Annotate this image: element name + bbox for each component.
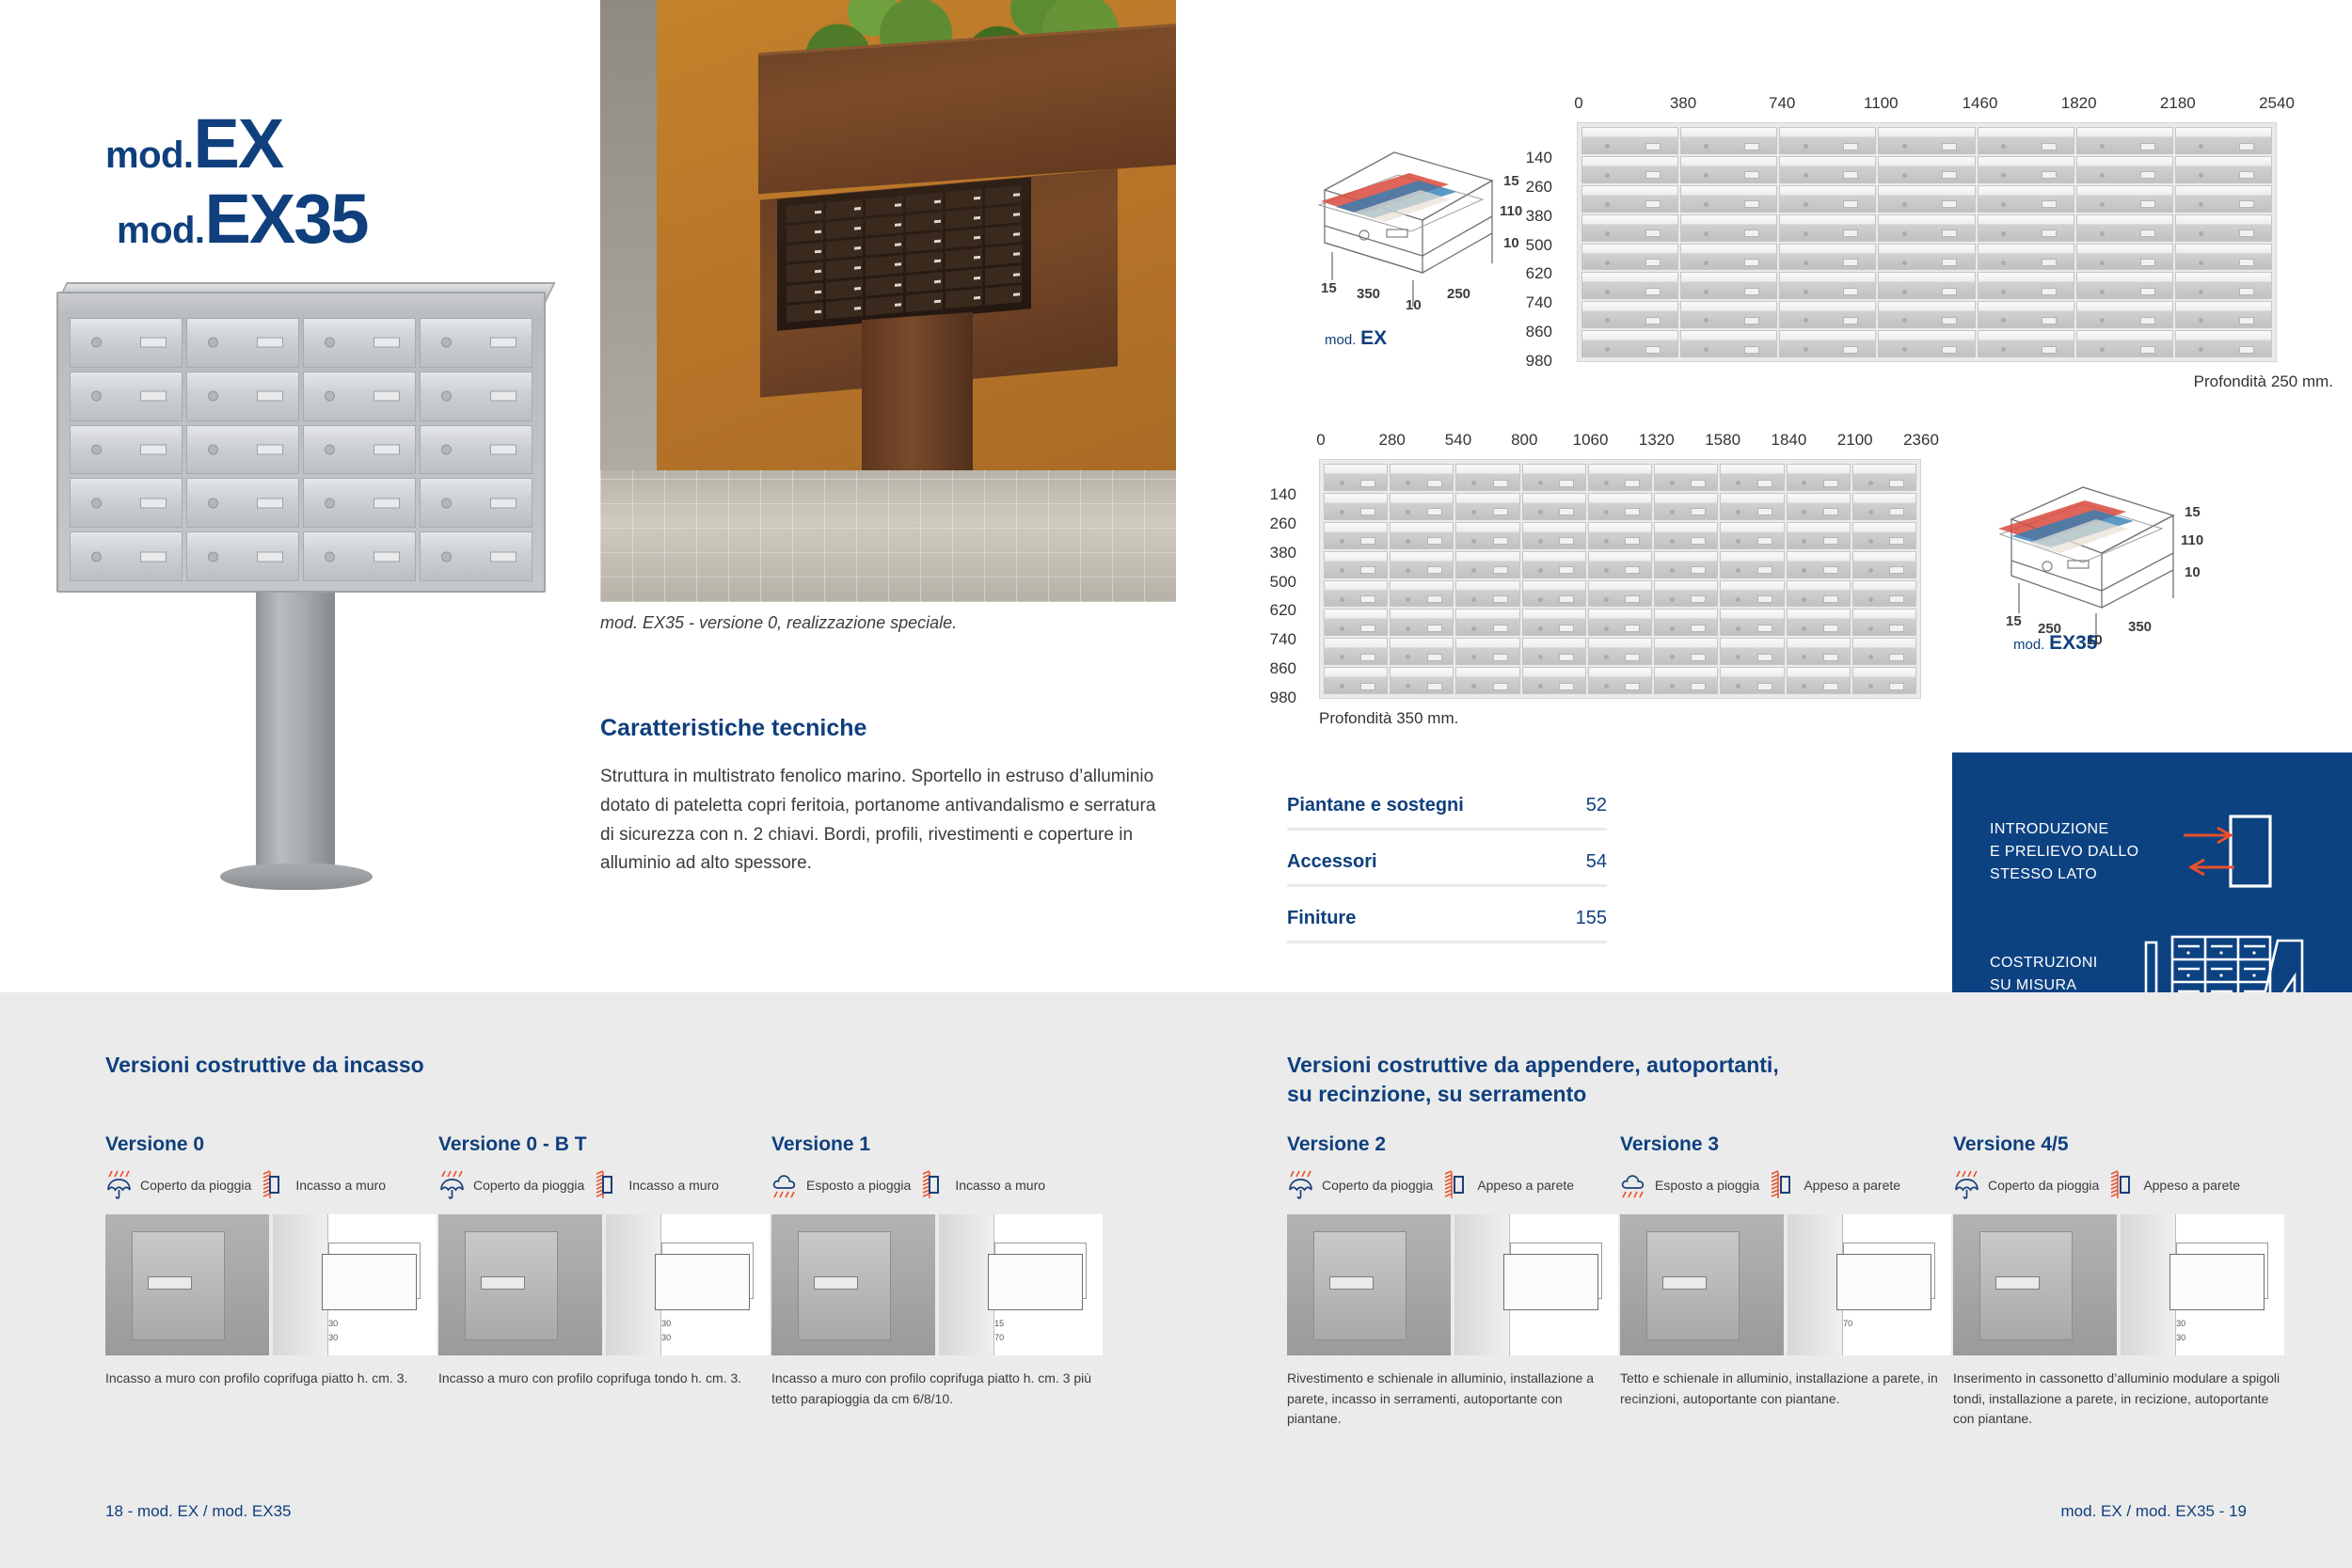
version-caption: Incasso a muro con profilo coprifuga pia… [771,1369,1103,1409]
chart-mailbox-module [2175,330,2272,357]
chart-mailbox-module [1654,667,1718,694]
version-attribute-icons: Coperto da pioggiaIncasso a muro [438,1169,770,1201]
hero-mailbox-cell [420,372,532,421]
photo-mailbox-cell [946,268,982,289]
wall-recess-icon [261,1170,289,1200]
version-attribute: Esposto a pioggia [1620,1170,1759,1200]
chart-x-tick: 280 [1379,431,1406,450]
iso-ex35-height-15: 15 [2185,504,2201,520]
hero-mailbox-cell [303,531,416,581]
version-attribute: Coperto da pioggia [438,1170,584,1200]
umbrella-icon [105,1170,134,1200]
version-images: 3030 [105,1214,437,1355]
iso-ex35-height-110: 110 [2181,532,2203,548]
reference-row[interactable]: Accessori54 [1287,851,1607,887]
hero-mailbox-cell [186,425,299,475]
version-caption: Tetto e schienale in alluminio, installa… [1620,1369,1951,1409]
title-line-ex: mod. EX [105,111,368,177]
photo-mailbox-cell [787,203,823,224]
version-title: Versione 0 - B T [438,1133,770,1156]
hero-mailbox-cell [420,425,532,475]
version-title: Versione 4/5 [1953,1133,2284,1156]
chart-mailbox-module [2076,330,2173,357]
photo-mailbox-cell [787,243,823,263]
chart-y-tick: 740 [1270,630,1296,649]
photo-mailbox-cell [826,299,863,320]
drawing-mailbox-body [988,1254,1083,1310]
chart-y-tick: 620 [1270,601,1296,620]
title-model-ex35: EX35 [205,186,368,252]
chart-mailbox-module [1581,156,1678,183]
chart-mailbox-module [1390,493,1454,520]
version-attribute: Incasso a muro [261,1170,386,1200]
iso-ex35-width-350: 350 [2128,619,2152,635]
photo-mailbox-cell [826,278,863,299]
chart-x-tick: 1460 [1963,94,1998,113]
chart-mailbox-module [1324,580,1388,608]
chart-mailbox-module [1978,330,2074,357]
hero-pedestal-base [220,863,373,890]
version-caption: Incasso a muro con profilo coprifuga pia… [105,1369,437,1389]
hero-mailbox-cell [303,318,416,368]
version-attribute-label: Esposto a pioggia [1655,1178,1759,1193]
version-attribute-label: Incasso a muro [955,1178,1045,1193]
chart-x-tick: 1060 [1573,431,1609,450]
chart-mailbox-module [1455,609,1519,636]
wall-hung-icon [1769,1170,1797,1200]
chart-mailbox-module [1680,127,1777,154]
technical-specs-heading: Caratteristiche tecniche [600,715,1165,742]
chart-mailbox-module [1581,127,1678,154]
chart-mailbox-module [1522,580,1586,608]
photo-mailbox-cell [906,232,943,253]
hero-product-render [38,282,564,959]
chart-mailbox-module [2175,127,2272,154]
chart-mailbox-module [2076,127,2173,154]
version-card-versione-3[interactable]: Versione 3Esposto a pioggiaAppeso a pare… [1620,1133,1951,1409]
photo-mailbox-cell [946,189,982,210]
chart-mailbox-module [2175,185,2272,213]
chart-mailbox-module [1852,667,1916,694]
chart-x-tick: 740 [1769,94,1795,113]
photo-mailbox-cell [985,265,1022,286]
chart-mailbox-module [1654,493,1718,520]
iso-ex-height-110: 110 [1500,203,1522,219]
chart-mailbox-module [1390,609,1454,636]
wall-hung-icon [2108,1170,2137,1200]
hero-mailbox-cell [420,531,532,581]
version-title: Versione 2 [1287,1133,1618,1156]
iso-ex-caption: mod. EX [1325,327,1387,350]
version-images [1287,1214,1618,1355]
photo-caption: mod. EX35 - versione 0, realizzazione sp… [600,613,957,633]
drawing-dimension-1: 30 [328,1319,338,1328]
chart-mailbox-module [1455,522,1519,549]
chart-x-tick: 1580 [1705,431,1740,450]
chart-mailbox-module [1654,522,1718,549]
version-caption: Inserimento in cassonetto d’alluminio mo… [1953,1369,2284,1430]
photo-mailbox-cell [906,192,943,213]
chart-mailbox-module [1390,638,1454,665]
chart-mailbox-module [1720,638,1784,665]
chart-mailbox-module [2175,272,2272,299]
chart-mailbox-module [1522,638,1586,665]
section-heading-surface: Versioni costruttive da appendere, autop… [1287,1051,1779,1109]
chart-mailbox-module [1324,667,1388,694]
chart-mailbox-module [1878,156,1975,183]
photo-mailbox-cell [985,205,1022,226]
chart-mailbox-module [1522,493,1586,520]
photo-paving [600,470,1176,602]
chart-x-tick: 1820 [2061,94,2097,113]
chart-y-tick: 500 [1270,573,1296,592]
photo-paving-tiles [600,470,1176,602]
hero-mailbox-cell [186,478,299,528]
chart-mailbox-module [1654,464,1718,491]
chart-mailbox-module [1852,522,1916,549]
chart-mailbox-module [1588,638,1652,665]
chart-mailbox-module [1720,551,1784,578]
chart-x-tick: 1320 [1639,431,1675,450]
version-drawing [1454,1214,1618,1355]
version-images: 70 [1620,1214,1951,1355]
iso-ex-width-350: 350 [1357,286,1380,302]
photo-mailbox-cell [946,229,982,249]
chart-ex35-depth-note: Profondità 350 mm. [1319,709,1458,728]
same-side-access-icon [2178,805,2281,899]
chart-mailbox-module [1779,272,1876,299]
iso-ex35-caption: mod. EX35 [2013,632,2097,655]
chart-y-tick: 980 [1270,689,1296,707]
reference-page-number: 155 [1576,908,1607,929]
chart-x-tick: 2360 [1903,431,1939,450]
drawing-dimension-1: 15 [994,1319,1004,1328]
chart-mailbox-module [1455,638,1519,665]
title-mod-prefix-2: mod. [117,213,205,248]
version-images: 3030 [438,1214,770,1355]
version-photo [105,1214,269,1355]
hero-pedestal-pole [256,593,335,875]
photo-mailbox-cell [866,295,902,316]
chart-mailbox-module [1787,522,1851,549]
chart-mailbox-module [1787,493,1851,520]
chart-mailbox-module [1324,493,1388,520]
chart-mailbox-module [1852,464,1916,491]
chart-mailbox-module [2076,272,2173,299]
photo-mailbox-cell [866,276,902,296]
footer-right: mod. EX / mod. EX35 - 19 [2061,1502,2247,1521]
chart-mailbox-module [1878,127,1975,154]
chart-mailbox-module [1680,330,1777,357]
chart-mailbox-module [1779,214,1876,242]
wall-recess-icon [920,1170,948,1200]
chart-y-tick: 860 [1526,323,1552,341]
version-attribute-label: Appeso a parete [2143,1178,2240,1193]
hero-mailbox-cell [303,478,416,528]
rain-cloud-icon [1620,1170,1648,1200]
photo-mailbox-cell [985,225,1022,245]
photo-mailbox-cell [906,292,943,312]
photo-mailbox-cell [906,213,943,233]
version-attribute: Appeso a parete [2108,1170,2240,1200]
version-title: Versione 1 [771,1133,1103,1156]
version-attribute-label: Esposto a pioggia [806,1178,911,1193]
chart-mailbox-module [1654,551,1718,578]
chart-mailbox-module [1720,609,1784,636]
chart-mailbox-module [1779,301,1876,328]
hero-mailbox-cell [70,425,183,475]
chart-ex-depth-note: Profondità 250 mm. [2194,372,2333,391]
chart-y-tick: 260 [1270,515,1296,533]
chart-mailbox-module [1680,214,1777,242]
hero-mailbox-cell [186,372,299,421]
drawing-dimension-1: 70 [1843,1319,1852,1328]
drawing-dimension-2: 30 [328,1333,338,1342]
chart-mailbox-module [1779,185,1876,213]
chart-mailbox-module [1779,156,1876,183]
photo-mailbox-cell [787,223,823,244]
chart-mailbox-module [1787,667,1851,694]
chart-mailbox-module [1720,493,1784,520]
iso-ex35-caption-mod: mod. [2013,637,2044,653]
info-panel-item-1-text: INTRODUZIONE E PRELIEVO DALLO STESSO LAT… [1990,818,2178,886]
reference-page-number: 54 [1586,851,1607,873]
chart-mailbox-module [2076,244,2173,271]
iso-ex-height-15: 15 [1503,173,1519,189]
photo-mailbox-array [787,185,1022,323]
version-drawing: 3030 [2121,1214,2284,1355]
chart-mailbox-module [1720,580,1784,608]
version-attribute-icons: Coperto da pioggiaAppeso a parete [1287,1169,1618,1201]
drawing-wall [939,1214,994,1355]
chart-mailbox-module [1324,638,1388,665]
hero-mailbox-cell [303,372,416,421]
chart-mailbox-module [1787,580,1851,608]
version-photo [1953,1214,2117,1355]
umbrella-icon [1953,1170,1981,1200]
version-card-versione-4-5[interactable]: Versione 4/5Coperto da pioggiaAppeso a p… [1953,1133,2284,1430]
chart-mailbox-module [1978,272,2074,299]
chart-mailbox-module [1588,493,1652,520]
chart-mailbox-module [1978,301,2074,328]
hero-mailbox-cell [420,478,532,528]
iso-ex-width-250: 250 [1447,286,1470,302]
chart-y-tick: 380 [1270,544,1296,562]
drawing-mailbox-body [1836,1254,1931,1310]
version-card-versione-0-b-t[interactable]: Versione 0 - B TCoperto da pioggiaIncass… [438,1133,770,1389]
version-attribute-icons: Esposto a pioggiaAppeso a parete [1620,1169,1951,1201]
version-attribute-label: Coperto da pioggia [1988,1178,2099,1193]
version-images: 1570 [771,1214,1103,1355]
drawing-wall [273,1214,328,1355]
iso-ex-caption-model: EX [1360,327,1387,349]
chart-ex35-mailbox-bank [1319,459,1921,699]
installation-photo [600,0,1176,602]
chart-mailbox-module [1654,580,1718,608]
version-attribute: Incasso a muro [920,1170,1045,1200]
iso-ex-height-10: 10 [1503,235,1519,251]
chart-mailbox-module [1522,551,1586,578]
chart-mailbox-module [1680,156,1777,183]
chart-mailbox-module [1852,551,1916,578]
chart-mailbox-module [1522,464,1586,491]
version-drawing: 1570 [939,1214,1103,1355]
chart-mailbox-module [1787,464,1851,491]
drawing-dimension-2: 30 [2176,1333,2185,1342]
chart-mailbox-module [1455,551,1519,578]
chart-y-tick: 980 [1526,352,1552,371]
iso-ex35-width-15: 15 [2006,613,2022,629]
hero-mailbox-cell [70,318,183,368]
version-attribute: Coperto da pioggia [1953,1170,2099,1200]
photo-mailbox-cell [826,219,863,240]
chart-mailbox-module [1852,580,1916,608]
chart-mailbox-module [1787,551,1851,578]
chart-mailbox-module [1390,580,1454,608]
chart-x-tick: 2100 [1837,431,1873,450]
version-attribute: Incasso a muro [594,1170,719,1200]
chart-mailbox-module [1878,272,1975,299]
chart-mailbox-module [1588,464,1652,491]
chart-x-tick: 800 [1511,431,1537,450]
photo-mailbox-cell [787,262,823,283]
reference-label: Piantane e sostegni [1287,795,1464,816]
version-drawing: 3030 [273,1214,437,1355]
chart-mailbox-module [1878,214,1975,242]
dimension-chart-ex35: 0280540800106013201580184021002360 14026… [1308,431,1966,713]
chart-mailbox-module [1978,185,2074,213]
version-attribute: Appeso a parete [1769,1170,1900,1200]
drawing-wall [606,1214,661,1355]
version-card-versione-1[interactable]: Versione 1Esposto a pioggiaIncasso a mur… [771,1133,1103,1409]
chart-mailbox-module [1978,244,2074,271]
hero-mailbox-cell [303,425,416,475]
hero-mailbox-cell [186,318,299,368]
chart-mailbox-module [1978,156,2074,183]
photo-mailbox-cell [826,259,863,279]
chart-mailbox-module [1324,464,1388,491]
reference-row[interactable]: Finiture155 [1287,908,1607,943]
version-photo [771,1214,935,1355]
reference-row[interactable]: Piantane e sostegni52 [1287,795,1607,831]
chart-mailbox-module [1581,301,1678,328]
chart-mailbox-module [2175,244,2272,271]
version-attribute-label: Appeso a parete [1804,1178,1900,1193]
version-photo [438,1214,602,1355]
chart-mailbox-module [1779,127,1876,154]
umbrella-icon [1287,1170,1315,1200]
iso-ex-width-10: 10 [1406,297,1422,313]
version-attribute-icons: Esposto a pioggiaIncasso a muro [771,1169,1103,1201]
chart-x-tick: 1840 [1772,431,1807,450]
info-panel-item-1: INTRODUZIONE E PRELIEVO DALLO STESSO LAT… [1990,805,2319,899]
version-drawing: 3030 [606,1214,770,1355]
chart-mailbox-module [1522,667,1586,694]
version-photo [1620,1214,1784,1355]
chart-ex35-x-axis: 0280540800106013201580184021002360 [1308,431,1966,451]
chart-mailbox-module [2175,156,2272,183]
chart-mailbox-module [2076,214,2173,242]
chart-x-tick: 540 [1445,431,1471,450]
photo-mailbox-cell [787,302,823,323]
version-attribute-label: Appeso a parete [1477,1178,1574,1193]
wall-recess-icon [594,1170,622,1200]
chart-mailbox-module [1581,272,1678,299]
chart-mailbox-module [1390,667,1454,694]
drawing-mailbox-body [655,1254,750,1310]
chart-y-tick: 140 [1270,485,1296,504]
version-images: 3030 [1953,1214,2284,1355]
reference-label: Accessori [1287,851,1377,873]
hero-mailbox-cell [70,531,183,581]
version-attribute-label: Incasso a muro [628,1178,719,1193]
chart-mailbox-module [1878,301,1975,328]
chart-ex-mailbox-bank [1577,122,2277,362]
chart-mailbox-module [1390,551,1454,578]
chart-mailbox-module [1654,609,1718,636]
chart-mailbox-module [1852,609,1916,636]
photo-mailbox-cell [826,199,863,220]
chart-mailbox-module [1581,330,1678,357]
page-title: mod. EX mod. EX35 [105,111,368,253]
technical-specs-body: Struttura in multistrato fenolico marino… [600,763,1165,879]
photo-mailbox-cell [866,256,902,277]
dimension-chart-ex: 038074011001460182021802540 140260380500… [1562,94,2333,367]
chart-mailbox-module [1878,330,1975,357]
chart-x-tick: 2540 [2259,94,2295,113]
reference-table: Piantane e sostegni52Accessori54Finiture… [1287,795,1607,964]
version-attribute: Coperto da pioggia [105,1170,251,1200]
chart-mailbox-module [1588,522,1652,549]
version-card-versione-2[interactable]: Versione 2Coperto da pioggiaAppeso a par… [1287,1133,1618,1430]
chart-x-tick: 0 [1316,431,1325,450]
version-photo [1287,1214,1451,1355]
chart-x-tick: 1100 [1864,94,1899,113]
chart-mailbox-module [1522,522,1586,549]
chart-mailbox-module [1588,609,1652,636]
chart-mailbox-module [1455,493,1519,520]
photo-mailbox-cell [906,252,943,273]
version-attribute-label: Coperto da pioggia [140,1178,251,1193]
chart-mailbox-module [1779,244,1876,271]
chart-mailbox-module [1978,214,2074,242]
hero-mailbox-grid [70,318,532,581]
photo-mailbox-cell [985,285,1022,306]
chart-mailbox-module [1588,580,1652,608]
technical-specs: Caratteristiche tecniche Struttura in mu… [600,715,1165,879]
reference-label: Finiture [1287,908,1356,929]
footer-left: 18 - mod. EX / mod. EX35 [105,1502,291,1521]
reference-page-number: 52 [1586,795,1607,816]
photo-mailbox-cell [787,282,823,303]
version-card-versione-0[interactable]: Versione 0Coperto da pioggiaIncasso a mu… [105,1133,437,1389]
iso-drawing-ex35: 15 110 10 15 250 10 350 [1985,470,2220,649]
title-line-ex35: mod. EX35 [117,186,368,252]
chart-mailbox-module [2076,301,2173,328]
chart-mailbox-module [1455,667,1519,694]
version-attribute: Coperto da pioggia [1287,1170,1433,1200]
version-attribute-icons: Coperto da pioggiaAppeso a parete [1953,1169,2284,1201]
chart-y-tick: 860 [1270,659,1296,678]
version-attribute: Appeso a parete [1442,1170,1574,1200]
chart-mailbox-module [1787,638,1851,665]
version-caption: Incasso a muro con profilo coprifuga ton… [438,1369,770,1389]
version-attribute: Esposto a pioggia [771,1170,911,1200]
chart-mailbox-module [1455,580,1519,608]
iso-ex35-height-10: 10 [2185,564,2201,580]
iso-ex-svg [1308,132,1543,310]
chart-mailbox-module [1581,244,1678,271]
